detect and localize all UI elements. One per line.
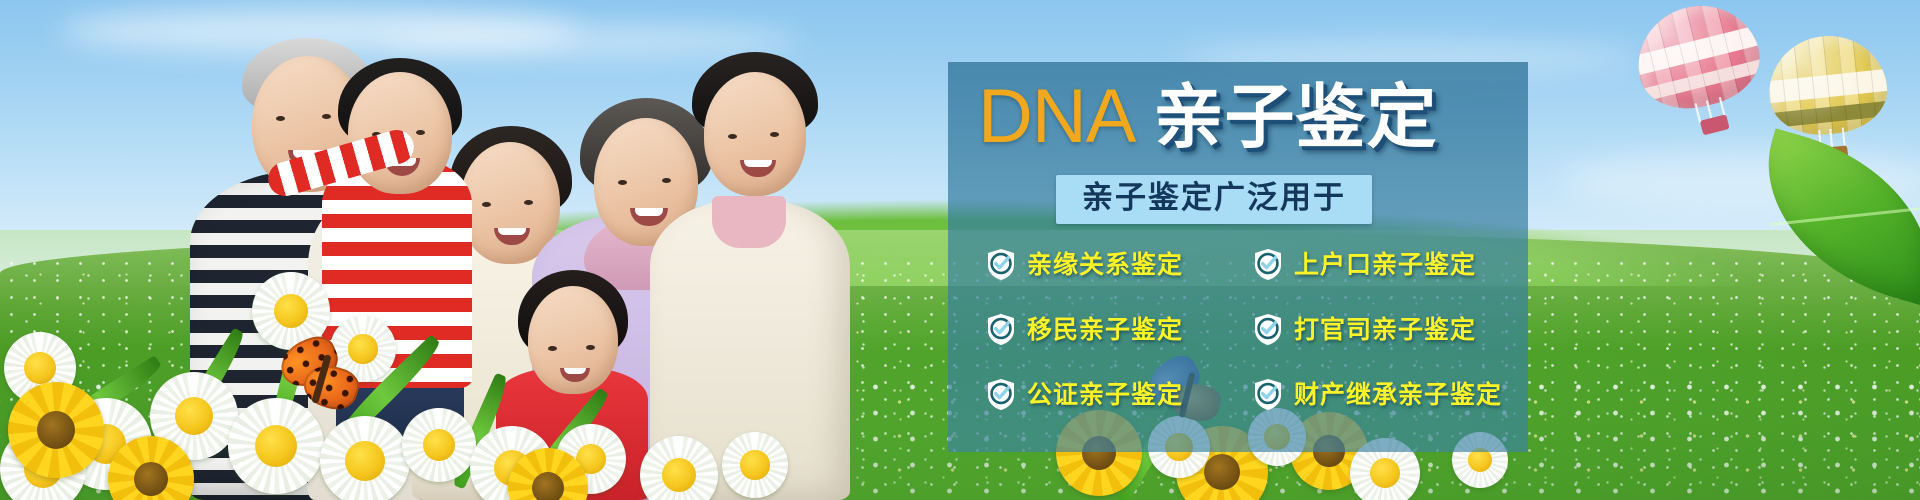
- subtitle-text: 亲子鉴定广泛用于: [1082, 180, 1346, 216]
- shield-check-icon: [1253, 248, 1283, 281]
- grandmother-eye-left: [618, 180, 627, 185]
- father-eye-right: [770, 132, 779, 137]
- shield-check-icon: [1253, 313, 1283, 346]
- girl-eye-right: [586, 345, 595, 350]
- benefit-item: 亲缘关系鉴定: [986, 248, 1239, 281]
- boy-eye-right: [416, 130, 425, 135]
- benefit-item: 上户口亲子鉴定: [1253, 248, 1506, 281]
- girl-eye-left: [548, 346, 557, 351]
- benefit-label: 亲缘关系鉴定: [1027, 252, 1183, 277]
- daisy-flower: [640, 436, 718, 500]
- benefit-label: 上户口亲子鉴定: [1294, 252, 1476, 277]
- daisy-flower: [320, 416, 410, 500]
- father-collar: [712, 196, 786, 248]
- benefit-item: 财产继承亲子鉴定: [1253, 378, 1506, 411]
- shield-check-icon: [1253, 378, 1283, 411]
- benefit-list: 亲缘关系鉴定 上户口亲子鉴定 移民亲子鉴定 打官司亲子鉴定 公证亲子鉴定 财产继…: [986, 248, 1506, 411]
- daisy-flower: [402, 408, 476, 482]
- benefit-label: 打官司亲子鉴定: [1294, 317, 1476, 342]
- benefit-item: 打官司亲子鉴定: [1253, 313, 1506, 346]
- daisy-flower: [722, 432, 788, 498]
- benefit-label: 财产继承亲子鉴定: [1294, 382, 1502, 407]
- subtitle-highlight-bar: 亲子鉴定广泛用于: [1056, 175, 1372, 224]
- panel-title: DNA 亲子鉴定: [978, 74, 1498, 160]
- yellow-sunflower: [8, 382, 104, 478]
- father-eye-left: [728, 134, 737, 139]
- shield-check-icon: [986, 248, 1016, 281]
- title-dna-text: DNA: [978, 79, 1135, 155]
- orange-butterfly: [278, 340, 376, 418]
- shield-check-icon: [986, 313, 1016, 346]
- benefit-item: 公证亲子鉴定: [986, 378, 1239, 411]
- grandfather-eye-left: [276, 116, 285, 121]
- yellow-balloon-envelope: [1764, 30, 1892, 140]
- benefit-label: 公证亲子鉴定: [1027, 382, 1183, 407]
- father-face: [704, 72, 806, 196]
- info-panel: DNA 亲子鉴定 亲子鉴定广泛用于 亲缘关系鉴定 上户口亲子鉴定 移民亲子鉴定 …: [948, 62, 1528, 452]
- title-chinese-text: 亲子鉴定: [1153, 82, 1437, 152]
- benefit-item: 移民亲子鉴定: [986, 313, 1239, 346]
- yellow-sunflower: [508, 448, 588, 500]
- dna-paternity-test-banner: DNA 亲子鉴定 亲子鉴定广泛用于 亲缘关系鉴定 上户口亲子鉴定 移民亲子鉴定 …: [0, 0, 1920, 500]
- benefit-label: 移民亲子鉴定: [1027, 317, 1183, 342]
- yellow-sunflower: [108, 436, 194, 500]
- shield-check-icon: [986, 378, 1016, 411]
